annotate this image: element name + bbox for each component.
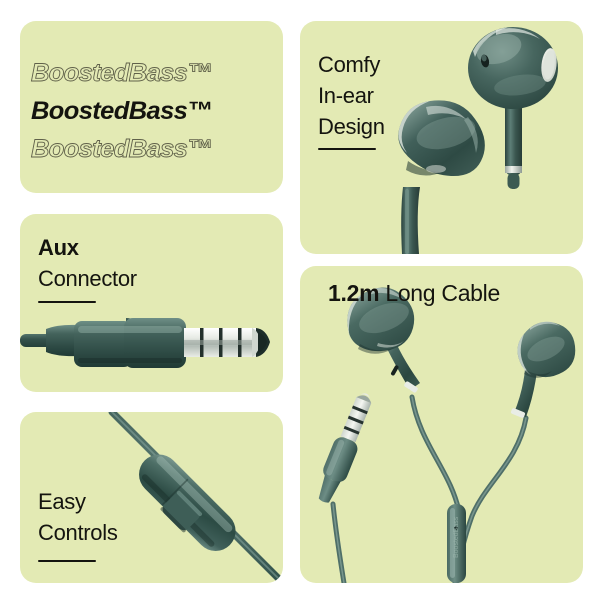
aux-heading: Aux Connector xyxy=(38,232,137,294)
cable-label: Long Cable xyxy=(385,280,500,306)
controls-line-1: Easy xyxy=(38,486,118,517)
mic-brand-text: BoostedBass xyxy=(453,516,460,558)
brand-wordmark-top: BoostedBass™ xyxy=(31,59,212,88)
easy-controls-card: Easy Controls xyxy=(20,412,283,583)
long-cable-card: BoostedBass 1.2m Long Cable xyxy=(300,266,583,583)
controls-divider-rule xyxy=(38,560,96,562)
comfy-line-3: Design xyxy=(318,111,385,142)
comfy-divider-rule xyxy=(318,148,376,150)
aux-divider-rule xyxy=(38,301,96,303)
comfy-line-2: In-ear xyxy=(318,80,385,111)
cable-heading: 1.2m Long Cable xyxy=(328,280,500,307)
comfy-heading: Comfy In-ear Design xyxy=(318,49,385,142)
controls-heading: Easy Controls xyxy=(38,486,118,548)
aux-connector-card: Aux Connector xyxy=(20,214,283,392)
comfy-line-1: Comfy xyxy=(318,49,385,80)
brand-wordmark-middle: BoostedBass™ xyxy=(31,97,212,126)
cable-measure: 1.2m xyxy=(328,280,379,306)
brand-wordmark-bottom: BoostedBass™ xyxy=(31,135,212,164)
aux-line-2: Connector xyxy=(38,263,137,294)
comfy-in-ear-design-card: Comfy In-ear Design xyxy=(300,21,583,254)
infographic-page: BoostedBass™ BoostedBass™ BoostedBass™ xyxy=(0,0,600,600)
controls-line-2: Controls xyxy=(38,517,118,548)
brand-card: BoostedBass™ BoostedBass™ BoostedBass™ xyxy=(20,21,283,193)
aux-line-1: Aux xyxy=(38,232,137,263)
full-earphones-illustration: BoostedBass xyxy=(300,266,583,583)
